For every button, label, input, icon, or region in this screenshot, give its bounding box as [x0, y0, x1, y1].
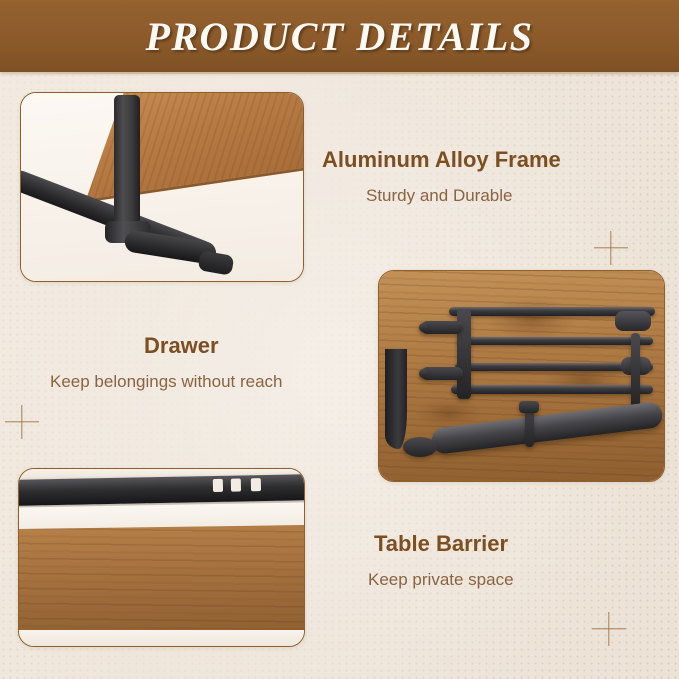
- feature-text-drawer: Drawer Keep belongings without reach: [50, 332, 283, 393]
- photo-panel-table-barrier: [378, 270, 665, 482]
- header-underline: [0, 72, 679, 74]
- photo-drawer: [19, 469, 304, 646]
- feature-title: Aluminum Alloy Frame: [322, 146, 561, 174]
- photo-aluminum-alloy-frame: [21, 93, 303, 281]
- page-title: PRODUCT DETAILS: [145, 13, 533, 60]
- photo-panel-aluminum-alloy-frame: [20, 92, 304, 282]
- feature-subtitle: Keep belongings without reach: [50, 371, 283, 394]
- feature-text-table-barrier: Table Barrier Keep private space: [368, 530, 514, 591]
- pivot-hinge: [403, 437, 437, 457]
- drawer-rail-notch: [251, 478, 261, 491]
- folding-leg-curve: [385, 349, 407, 449]
- center-mount-screw: [519, 401, 539, 413]
- header-banner: PRODUCT DETAILS: [0, 0, 679, 72]
- barrier-right-post: [631, 333, 640, 409]
- product-details-poster: PRODUCT DETAILS: [0, 0, 679, 679]
- feature-title: Table Barrier: [374, 530, 514, 558]
- frame-vertical-post: [114, 95, 140, 235]
- drawer-rail-notch: [213, 479, 223, 492]
- wood-grain-knot: [489, 299, 575, 339]
- photo-panel-drawer: [18, 468, 305, 647]
- feature-text-aluminum-alloy-frame: Aluminum Alloy Frame Sturdy and Durable: [322, 146, 561, 207]
- drawer-front-panel: [19, 525, 304, 634]
- feature-subtitle: Sturdy and Durable: [366, 185, 561, 208]
- barrier-rail: [457, 337, 653, 345]
- feature-subtitle: Keep private space: [368, 569, 514, 592]
- feature-title: Drawer: [144, 332, 283, 360]
- barrier-clamp-knob-upper: [419, 323, 428, 332]
- wood-grain-knot: [417, 399, 481, 427]
- photo-table-barrier: [379, 271, 664, 481]
- barrier-end-cap: [615, 311, 651, 331]
- barrier-clamp-knob-lower: [419, 369, 428, 378]
- drawer-rail-notch: [231, 478, 241, 491]
- drawer-bottom-edge: [19, 630, 304, 646]
- frame-foot-tip: [198, 250, 235, 276]
- barrier-rail: [451, 385, 653, 394]
- drawer-metal-rail: [19, 474, 304, 506]
